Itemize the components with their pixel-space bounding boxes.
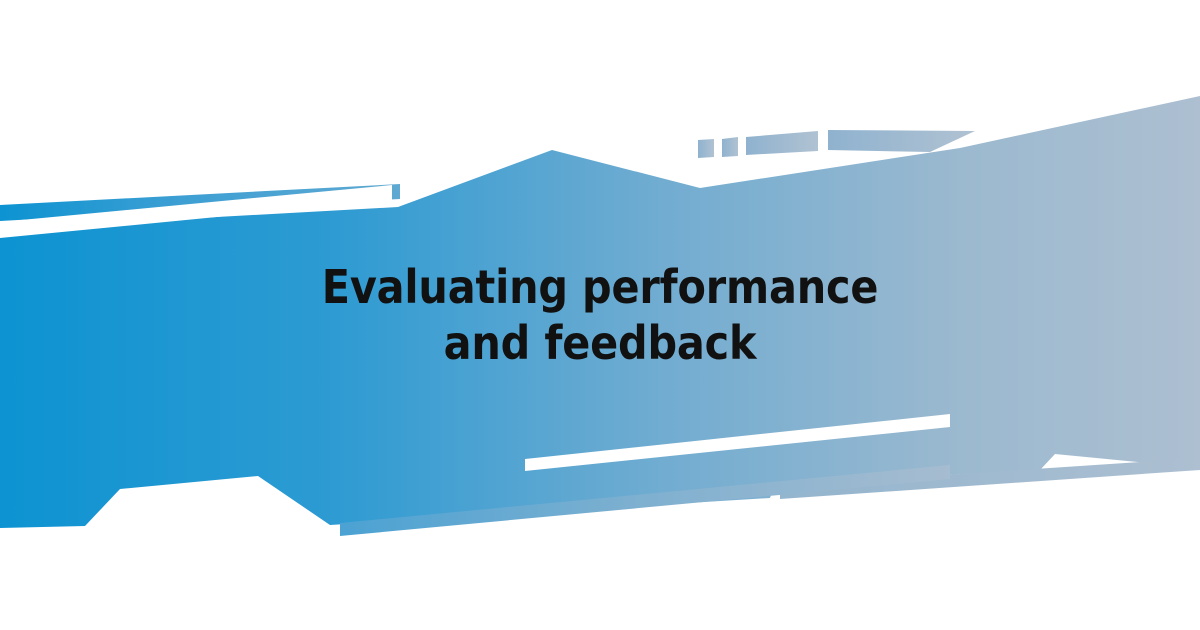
dash-square-2: [722, 137, 738, 157]
decorative-banner-artwork: [0, 0, 1200, 630]
dash-square-1: [698, 139, 714, 158]
dash-bar-3: [746, 131, 818, 155]
banner: Evaluating performance and feedback: [0, 0, 1200, 630]
dash-bar-4: [828, 130, 975, 152]
